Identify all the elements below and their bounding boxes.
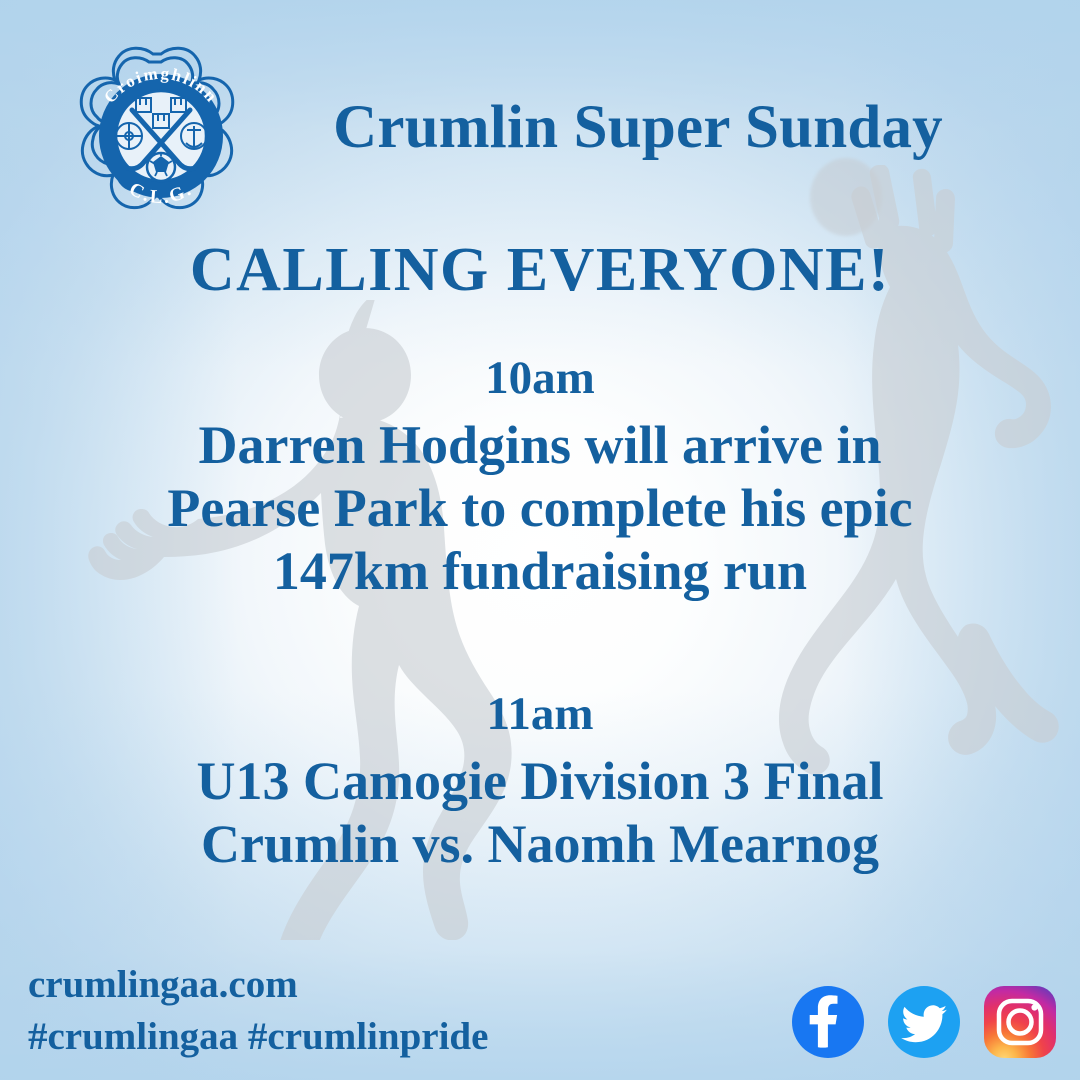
schedule-description: U13 Camogie Division 3 Final Crumlin vs.… (60, 750, 1020, 876)
schedule-line: 147km fundraising run (60, 540, 1020, 603)
headline: CALLING EVERYONE! (90, 238, 990, 303)
club-crest-logo: Croimghlinn C.L.G. (70, 44, 252, 228)
hashtags-text: #crumlingaa #crumlinpride (28, 1011, 488, 1062)
twitter-icon[interactable] (886, 984, 962, 1060)
schedule-line: Pearse Park to complete his epic (60, 477, 1020, 540)
instagram-icon[interactable] (982, 984, 1058, 1060)
schedule-line: Darren Hodgins will arrive in (60, 414, 1020, 477)
social-links (790, 984, 1058, 1060)
poster-canvas: Croimghlinn C.L.G. (0, 0, 1080, 1080)
schedule-description: Darren Hodgins will arrive in Pearse Par… (60, 414, 1020, 604)
website-text[interactable]: crumlingaa.com (28, 959, 488, 1010)
schedule-line: U13 Camogie Division 3 Final (60, 750, 1020, 813)
facebook-icon[interactable] (790, 984, 866, 1060)
footer-contact: crumlingaa.com #crumlingaa #crumlinpride (28, 959, 488, 1062)
schedule-line: Crumlin vs. Naomh Mearnog (60, 813, 1020, 876)
schedule-item-1: 10am Darren Hodgins will arrive in Pears… (60, 352, 1020, 603)
schedule-item-2: 11am U13 Camogie Division 3 Final Crumli… (60, 688, 1020, 876)
silhouette-ball (810, 158, 882, 236)
schedule-time: 11am (60, 688, 1020, 742)
page-title: Crumlin Super Sunday (258, 96, 1018, 160)
schedule-time: 10am (60, 352, 1020, 406)
